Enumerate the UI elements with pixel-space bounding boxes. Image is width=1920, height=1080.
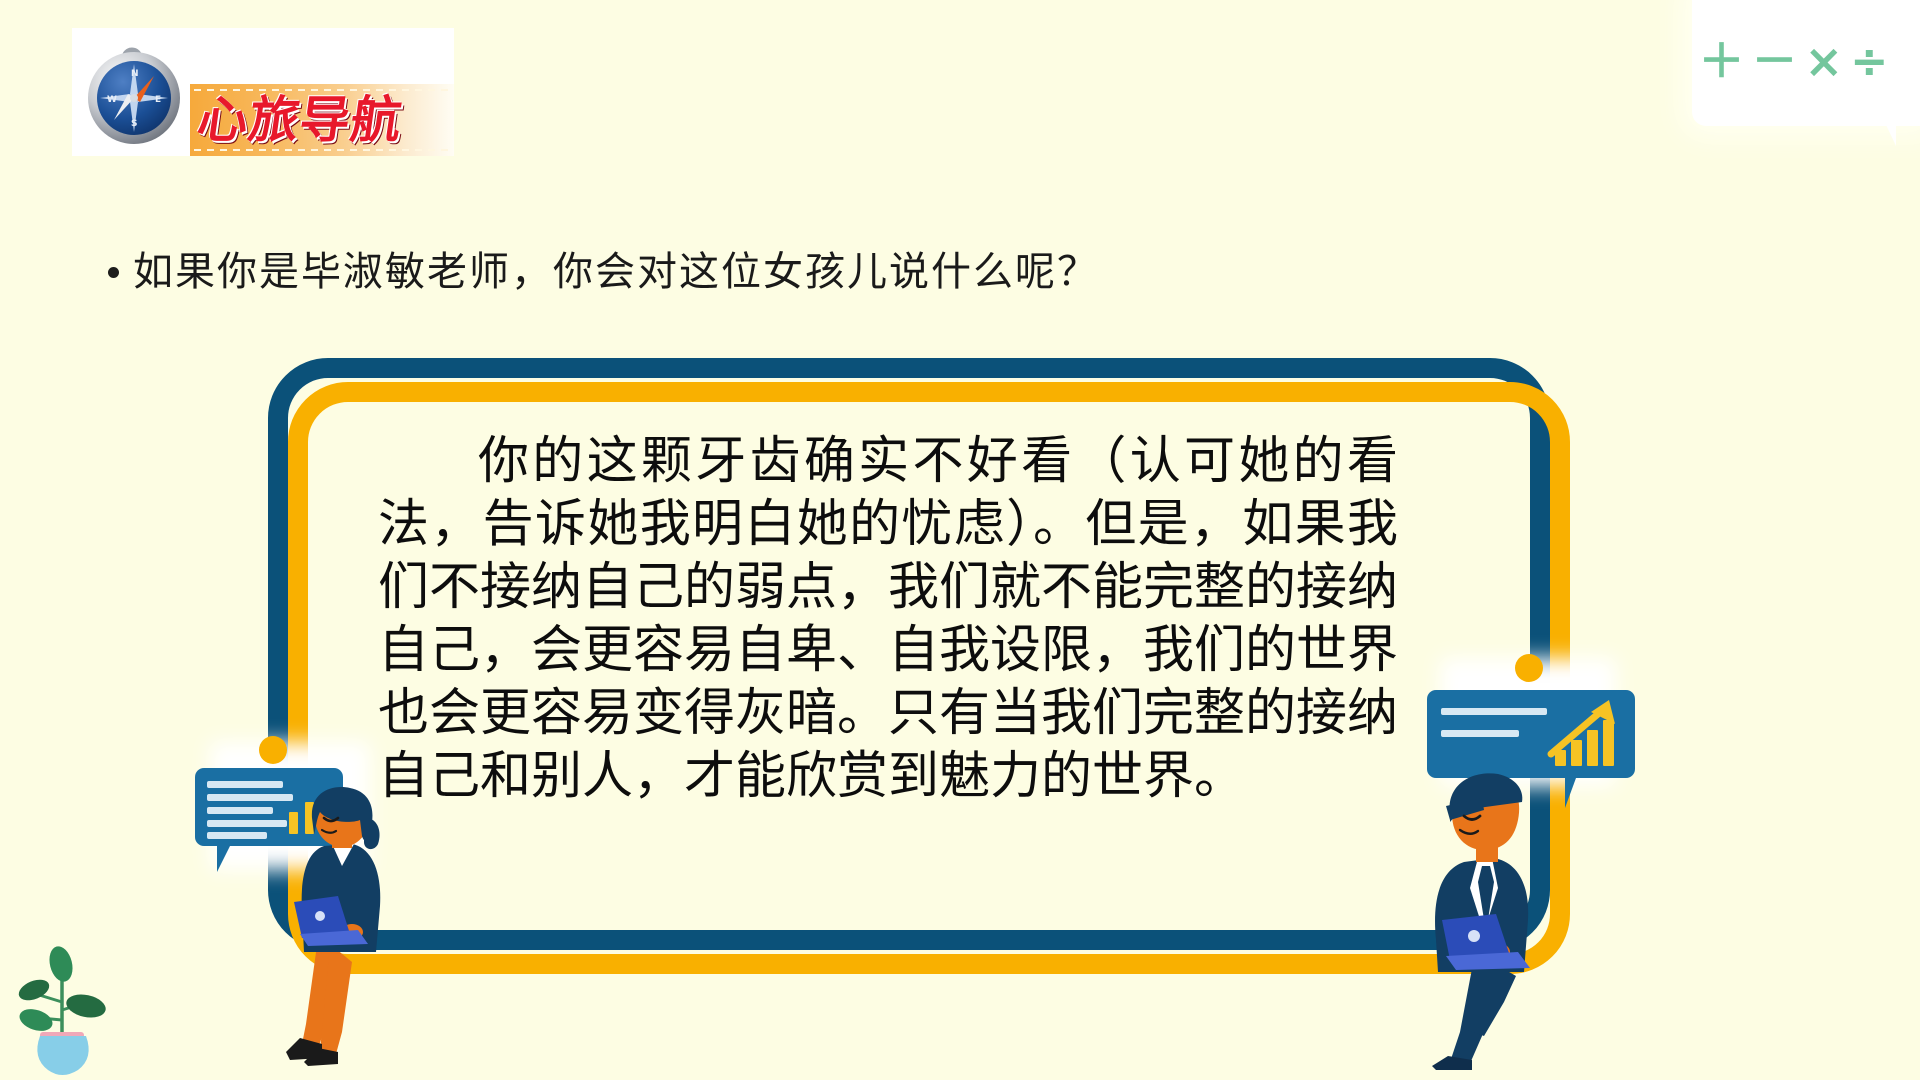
trend-arrow-icon (1547, 698, 1627, 758)
math-operators-icon: ＋－×÷ (1692, 38, 1902, 84)
svg-text:S: S (131, 119, 137, 129)
bullet-question: 如果你是毕淑敏老师，你会对这位女孩儿说什么呢？ (108, 248, 1099, 296)
math-operators-bubble: ＋－×÷ (1692, 0, 1920, 126)
decorative-dot-right (1515, 654, 1543, 682)
svg-text:N: N (131, 69, 139, 79)
man-with-laptop-illustration (1412, 770, 1592, 1070)
bubble-tail-left (217, 846, 237, 872)
decorative-dot-left (259, 736, 287, 764)
bubble-line (207, 832, 267, 839)
svg-text:E: E (155, 95, 161, 105)
bullet-question-text: 如果你是毕淑敏老师，你会对这位女孩儿说什么呢？ (133, 248, 1099, 296)
slide-canvas: N S W E 心旅导航 ＋－×÷ 如果你是毕淑敏老师，你会对这位女孩儿说什么呢… (0, 0, 1920, 1080)
bullet-marker-icon (108, 267, 119, 278)
bubble-line (207, 807, 273, 814)
compass-icon: N S W E (80, 36, 192, 148)
bubble-tail (1880, 112, 1896, 146)
bubble-line (1441, 730, 1519, 737)
potted-plant-icon (8, 940, 118, 1080)
bubble-line (1441, 708, 1547, 715)
logo-title: 心旅导航 (194, 90, 406, 150)
svg-text:W: W (107, 95, 117, 105)
main-body-text: 你的这颗牙齿确实不好看（认可她的看法，告诉她我明白她的忧虑）。但是，如果我们不接… (378, 430, 1398, 808)
growth-chart-speech-bubble-right (1427, 690, 1635, 778)
logo-badge: N S W E 心旅导航 (72, 28, 454, 156)
woman-with-laptop-illustration (272, 786, 422, 1066)
